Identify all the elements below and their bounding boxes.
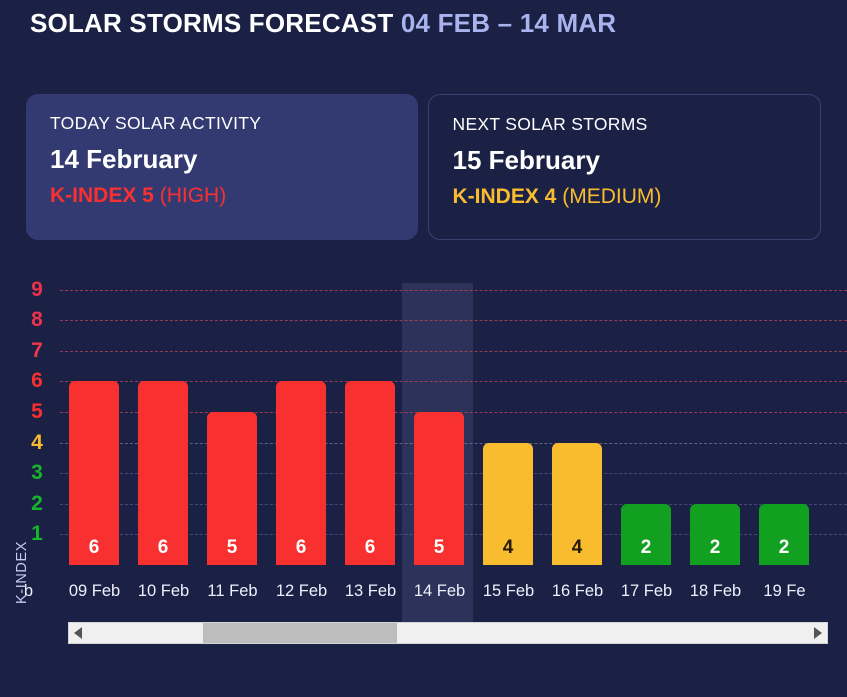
bar[interactable]: 5: [207, 412, 257, 565]
bar[interactable]: 6: [345, 381, 395, 565]
bar[interactable]: 6: [69, 381, 119, 565]
bar[interactable]: 4: [552, 443, 602, 565]
bar[interactable]: 2: [759, 504, 809, 565]
y-axis-title: K-INDEX: [14, 514, 30, 604]
card-title: NEXT SOLAR STORMS: [453, 114, 797, 135]
card-date: 15 February: [453, 145, 797, 176]
bar-value-label: 6: [138, 537, 188, 559]
chevron-left-icon: [74, 627, 82, 639]
x-axis-tick-label: 14 Feb: [405, 582, 474, 601]
x-axis-tick-label: 13 Feb: [336, 582, 405, 601]
page-title-date-range: 04 FEB – 14 MAR: [401, 8, 616, 38]
bar-value-label: 4: [552, 537, 602, 559]
bar-value-label: 6: [69, 537, 119, 559]
scroll-left-button[interactable]: [69, 623, 87, 643]
chart-horizontal-scrollbar[interactable]: [68, 622, 828, 644]
y-axis-tick-7: 7: [26, 339, 48, 363]
bar[interactable]: 6: [138, 381, 188, 565]
x-axis-tick-label: 10 Feb: [129, 582, 198, 601]
bar-value-label: 6: [276, 537, 326, 559]
scroll-right-button[interactable]: [809, 623, 827, 643]
x-axis-tick-label: 15 Feb: [474, 582, 543, 601]
scrollbar-track[interactable]: [87, 623, 809, 643]
y-axis-tick-2: 2: [26, 492, 48, 516]
card-kindex-level: (HIGH): [160, 184, 227, 207]
bar-value-label: 2: [759, 537, 809, 559]
page-title-main: SOLAR STORMS FORECAST: [30, 8, 393, 38]
y-axis-tick-5: 5: [26, 400, 48, 424]
bar[interactable]: 5: [414, 412, 464, 565]
x-axis-tick-label: 18 Feb: [681, 582, 750, 601]
chevron-right-icon: [814, 627, 822, 639]
page-title: SOLAR STORMS FORECAST 04 FEB – 14 MAR: [30, 8, 616, 39]
summary-cards: TODAY SOLAR ACTIVITY 14 February K-INDEX…: [26, 94, 821, 240]
bar[interactable]: 2: [621, 504, 671, 565]
x-axis-tick-label: 11 Feb: [198, 582, 267, 601]
card-kindex: K-INDEX 4 (MEDIUM): [453, 185, 797, 209]
scrollbar-thumb[interactable]: [203, 623, 398, 643]
card-kindex-level: (MEDIUM): [562, 185, 661, 208]
bar-value-label: 2: [621, 537, 671, 559]
x-axis-tick-label: 16 Feb: [543, 582, 612, 601]
y-axis-tick-9: 9: [26, 278, 48, 302]
x-axis-tick-label: 12 Feb: [267, 582, 336, 601]
y-axis-tick-6: 6: [26, 369, 48, 393]
card-kindex-value: K-INDEX 4: [453, 185, 557, 208]
bar-value-label: 5: [414, 537, 464, 559]
x-axis-tick-label: 19 Fe: [750, 582, 819, 601]
bar-value-label: 5: [207, 537, 257, 559]
card-kindex: K-INDEX 5 (HIGH): [50, 184, 394, 208]
x-axis-tick-label: 17 Feb: [612, 582, 681, 601]
bar[interactable]: 4: [483, 443, 533, 565]
bar[interactable]: 2: [690, 504, 740, 565]
x-axis-tick-label-partial: b: [0, 582, 63, 601]
bar[interactable]: 6: [276, 381, 326, 565]
card-title: TODAY SOLAR ACTIVITY: [50, 113, 394, 134]
bar-value-label: 4: [483, 537, 533, 559]
card-kindex-value: K-INDEX 5: [50, 184, 154, 207]
y-axis-tick-4: 4: [26, 431, 48, 455]
bar-value-label: 2: [690, 537, 740, 559]
bar-value-label: 6: [345, 537, 395, 559]
y-axis-tick-8: 8: [26, 308, 48, 332]
card-next-solar-storms[interactable]: NEXT SOLAR STORMS 15 February K-INDEX 4 …: [428, 94, 822, 240]
x-axis-tick-label: 09 Feb: [60, 582, 129, 601]
y-axis-tick-3: 3: [26, 461, 48, 485]
card-date: 14 February: [50, 144, 394, 175]
card-today-solar-activity[interactable]: TODAY SOLAR ACTIVITY 14 February K-INDEX…: [26, 94, 418, 240]
